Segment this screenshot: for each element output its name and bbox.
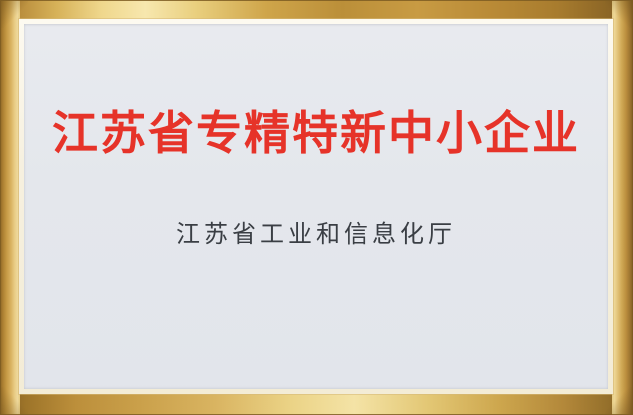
- plaque-panel: 江苏省专精特新中小企业 江苏省工业和信息化厅: [24, 24, 608, 389]
- frame-border-left: [0, 0, 20, 415]
- plaque-title: 江苏省专精特新中小企业: [52, 108, 580, 159]
- award-plaque: 江苏省专精特新中小企业 江苏省工业和信息化厅: [0, 0, 633, 415]
- frame-border-bottom: [0, 393, 633, 415]
- frame-border-right: [612, 0, 633, 415]
- frame-border-top: [0, 0, 633, 20]
- plaque-issuer: 江苏省工业和信息化厅: [176, 221, 456, 250]
